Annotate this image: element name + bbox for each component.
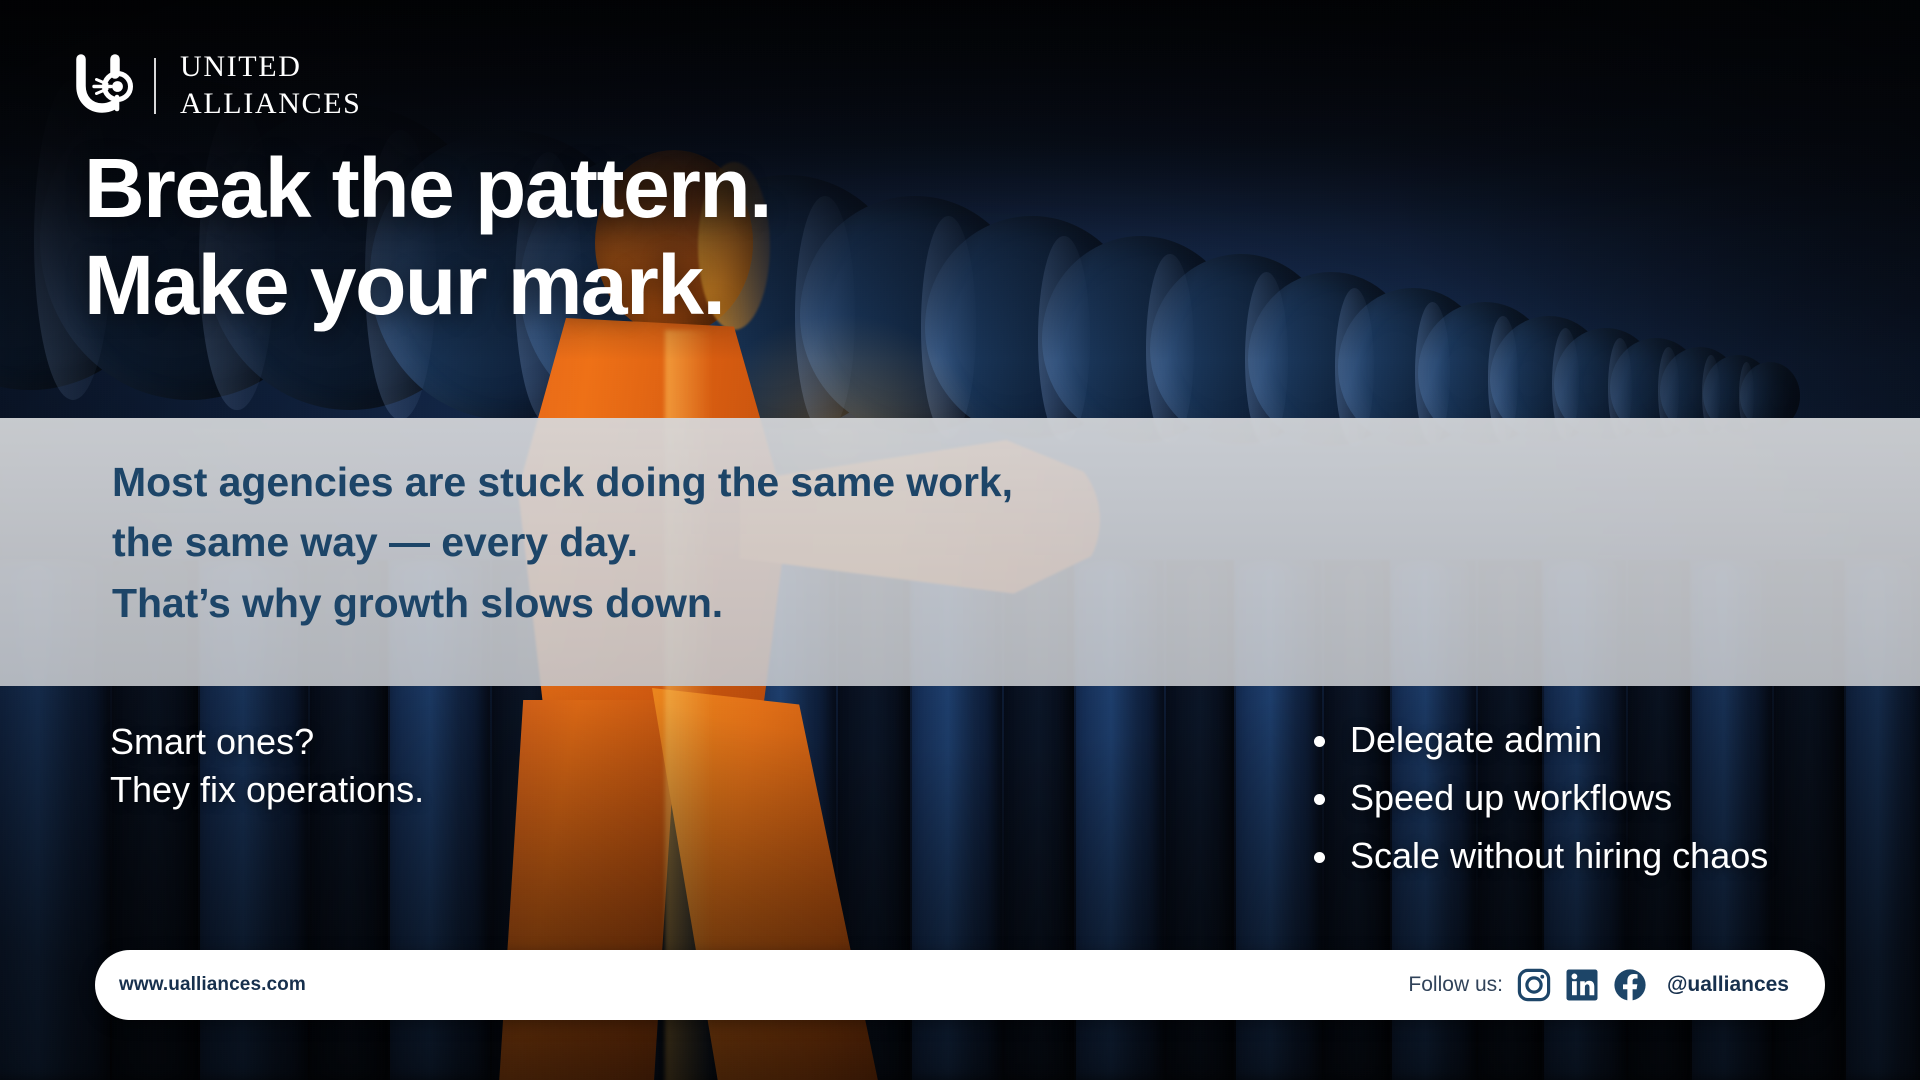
- sub-copy-line-1: Smart ones?: [110, 718, 424, 766]
- benefits-list: Delegate admin Speed up workflows Scale …: [1308, 716, 1768, 890]
- instagram-icon[interactable]: [1517, 968, 1551, 1002]
- headline-line-1: Break the pattern.: [84, 140, 771, 237]
- headline: Break the pattern. Make your mark.: [84, 140, 771, 335]
- sub-copy-line-2: They fix operations.: [110, 766, 424, 814]
- social-group: Follow us:: [1408, 968, 1789, 1002]
- list-item: Speed up workflows: [1308, 774, 1768, 822]
- logo-divider: [154, 58, 156, 114]
- list-item-label: Scale without hiring chaos: [1350, 835, 1768, 876]
- bullet-dot-icon: [1314, 852, 1325, 863]
- poster-canvas: UNITED ALLIANCES Break the pattern. Make…: [0, 0, 1920, 1080]
- website-url-link[interactable]: www.ualliances.com: [119, 974, 306, 996]
- brand-name-line1: UNITED: [180, 52, 362, 82]
- list-item: Scale without hiring chaos: [1308, 832, 1768, 880]
- brand-logo: UNITED ALLIANCES: [72, 52, 362, 119]
- list-item-label: Delegate admin: [1350, 719, 1602, 760]
- banner-line-2: the same way — every day.: [112, 512, 1013, 572]
- bullet-dot-icon: [1314, 736, 1325, 747]
- banner-line-1: Most agencies are stuck doing the same w…: [112, 452, 1013, 512]
- message-banner-text: Most agencies are stuck doing the same w…: [112, 452, 1013, 633]
- sub-copy-left: Smart ones? They fix operations.: [110, 718, 424, 814]
- follow-us-label: Follow us:: [1408, 973, 1503, 997]
- footer-bar: www.ualliances.com Follow us:: [95, 950, 1825, 1020]
- brand-name-line2: ALLIANCES: [180, 89, 362, 119]
- linkedin-icon[interactable]: [1565, 968, 1599, 1002]
- social-handle[interactable]: @ualliances: [1667, 973, 1789, 997]
- list-item-label: Speed up workflows: [1350, 777, 1672, 818]
- bullet-dot-icon: [1314, 794, 1325, 805]
- list-item: Delegate admin: [1308, 716, 1768, 764]
- facebook-icon[interactable]: [1613, 968, 1647, 1002]
- banner-line-3: That’s why growth slows down.: [112, 573, 1013, 633]
- united-alliances-u-target-logo-icon: [72, 53, 138, 119]
- headline-line-2: Make your mark.: [84, 237, 771, 334]
